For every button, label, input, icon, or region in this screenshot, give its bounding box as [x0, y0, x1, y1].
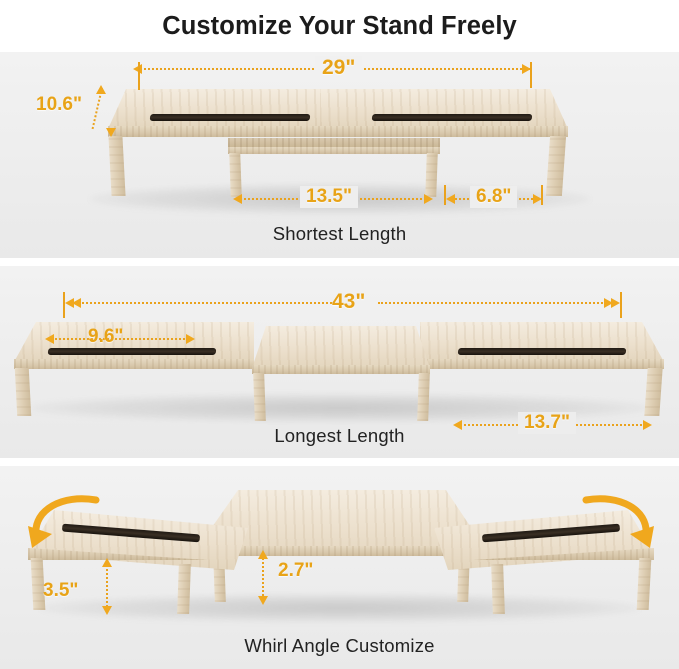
- stand-leg-outer-left: [108, 136, 125, 196]
- dim-line-center-height: [262, 554, 264, 600]
- center-shelf-top: [252, 326, 430, 368]
- dim-arrow-depth-bottom: [106, 128, 116, 137]
- device-slot-left: [150, 114, 311, 121]
- dim-line-overall-width-b: [378, 302, 610, 304]
- dim-label-overall-width: 29": [315, 56, 362, 80]
- dim-tick-overall-left: [138, 62, 140, 90]
- panel-caption-whirl: Whirl Angle Customize: [0, 635, 679, 657]
- panel-whirl-angle: 3.5" 2.7" Whirl Angle Customize: [0, 466, 679, 669]
- center-shelf-edge: [252, 365, 430, 374]
- dim-label-depth: 10.6": [36, 94, 82, 116]
- stand-top-deck-left: [108, 89, 320, 129]
- dim-label-side-platform: 9.6": [88, 326, 123, 348]
- dim-arrow-overall-right-2: [611, 298, 620, 308]
- rotate-right-arrow: [576, 490, 656, 563]
- dim-arrow-side-platform-right: [186, 334, 195, 344]
- center-shelf-leg-right: [417, 373, 430, 421]
- device-slot-right: [372, 114, 533, 121]
- dim-arrow-side-gap-left: [446, 194, 455, 204]
- dim-arrow-depth-top: [96, 85, 106, 94]
- stand-leg-outer-right: [546, 136, 566, 196]
- side-platform-right-leg-outer: [637, 558, 652, 610]
- dim-arrow-center-right: [424, 194, 433, 204]
- dim-label-center-height: 2.7": [278, 560, 313, 582]
- dim-arrow-overall-left-2: [72, 298, 81, 308]
- dim-label-side-height: 3.5": [43, 580, 78, 602]
- dim-arrow-center-height-bottom: [258, 596, 268, 605]
- dim-arrow-side-height-bottom: [102, 606, 112, 615]
- infographic-page: Customize Your Stand Freely 29": [0, 0, 679, 669]
- dim-tick-side-gap-right: [541, 185, 543, 205]
- side-platform-right-leg-inner: [491, 564, 505, 614]
- center-shelf-leg-right: [425, 153, 438, 197]
- panel-caption-longest: Longest Length: [0, 425, 679, 447]
- center-shelf-leg-left: [253, 373, 266, 421]
- panel-shortest-length: 29" 10.6" 13.5" 6.8" Shortest Length: [0, 52, 679, 258]
- dim-label-side-gap: 6.8": [470, 186, 517, 208]
- panel-caption-shortest: Shortest Length: [0, 223, 679, 245]
- device-slot-left: [48, 348, 217, 355]
- side-platform-right-top: [420, 322, 664, 362]
- dim-line-overall-width-a: [77, 302, 332, 304]
- side-platform-right-edge: [420, 359, 664, 369]
- dim-label-overall-width: 43": [332, 290, 365, 314]
- dim-line-side-height: [106, 562, 108, 610]
- dim-tick-overall-left: [63, 292, 65, 318]
- center-shelf-leg-left: [229, 153, 242, 197]
- stand-front-edge: [108, 126, 568, 137]
- side-platform-left-leg-inner: [177, 564, 191, 614]
- panel-longest-length: 43" 9.6" 13.7" Longest Length: [0, 266, 679, 458]
- side-platform-left-leg: [15, 368, 32, 416]
- dim-tick-overall-right: [530, 62, 532, 88]
- center-shelf-edge: [228, 147, 440, 154]
- page-title-bar: Customize Your Stand Freely: [0, 0, 679, 52]
- page-title: Customize Your Stand Freely: [162, 12, 517, 41]
- dim-tick-side-gap-left: [444, 185, 446, 205]
- dim-tick-overall-right: [620, 292, 622, 318]
- side-platform-left-edge: [14, 359, 254, 369]
- rotate-left-arrow: [26, 490, 106, 563]
- dim-arrow-side-platform-left: [45, 334, 54, 344]
- stand-top-deck-right: [320, 89, 568, 129]
- dim-arrow-center-height-top: [258, 550, 268, 559]
- dim-arrow-center-left: [233, 194, 242, 204]
- stand-shadow: [40, 594, 640, 622]
- side-platform-right-leg: [644, 368, 662, 416]
- dim-label-center-shelf: 13.5": [300, 186, 358, 208]
- device-slot-right: [458, 348, 627, 355]
- dim-arrow-side-height-top: [102, 558, 112, 567]
